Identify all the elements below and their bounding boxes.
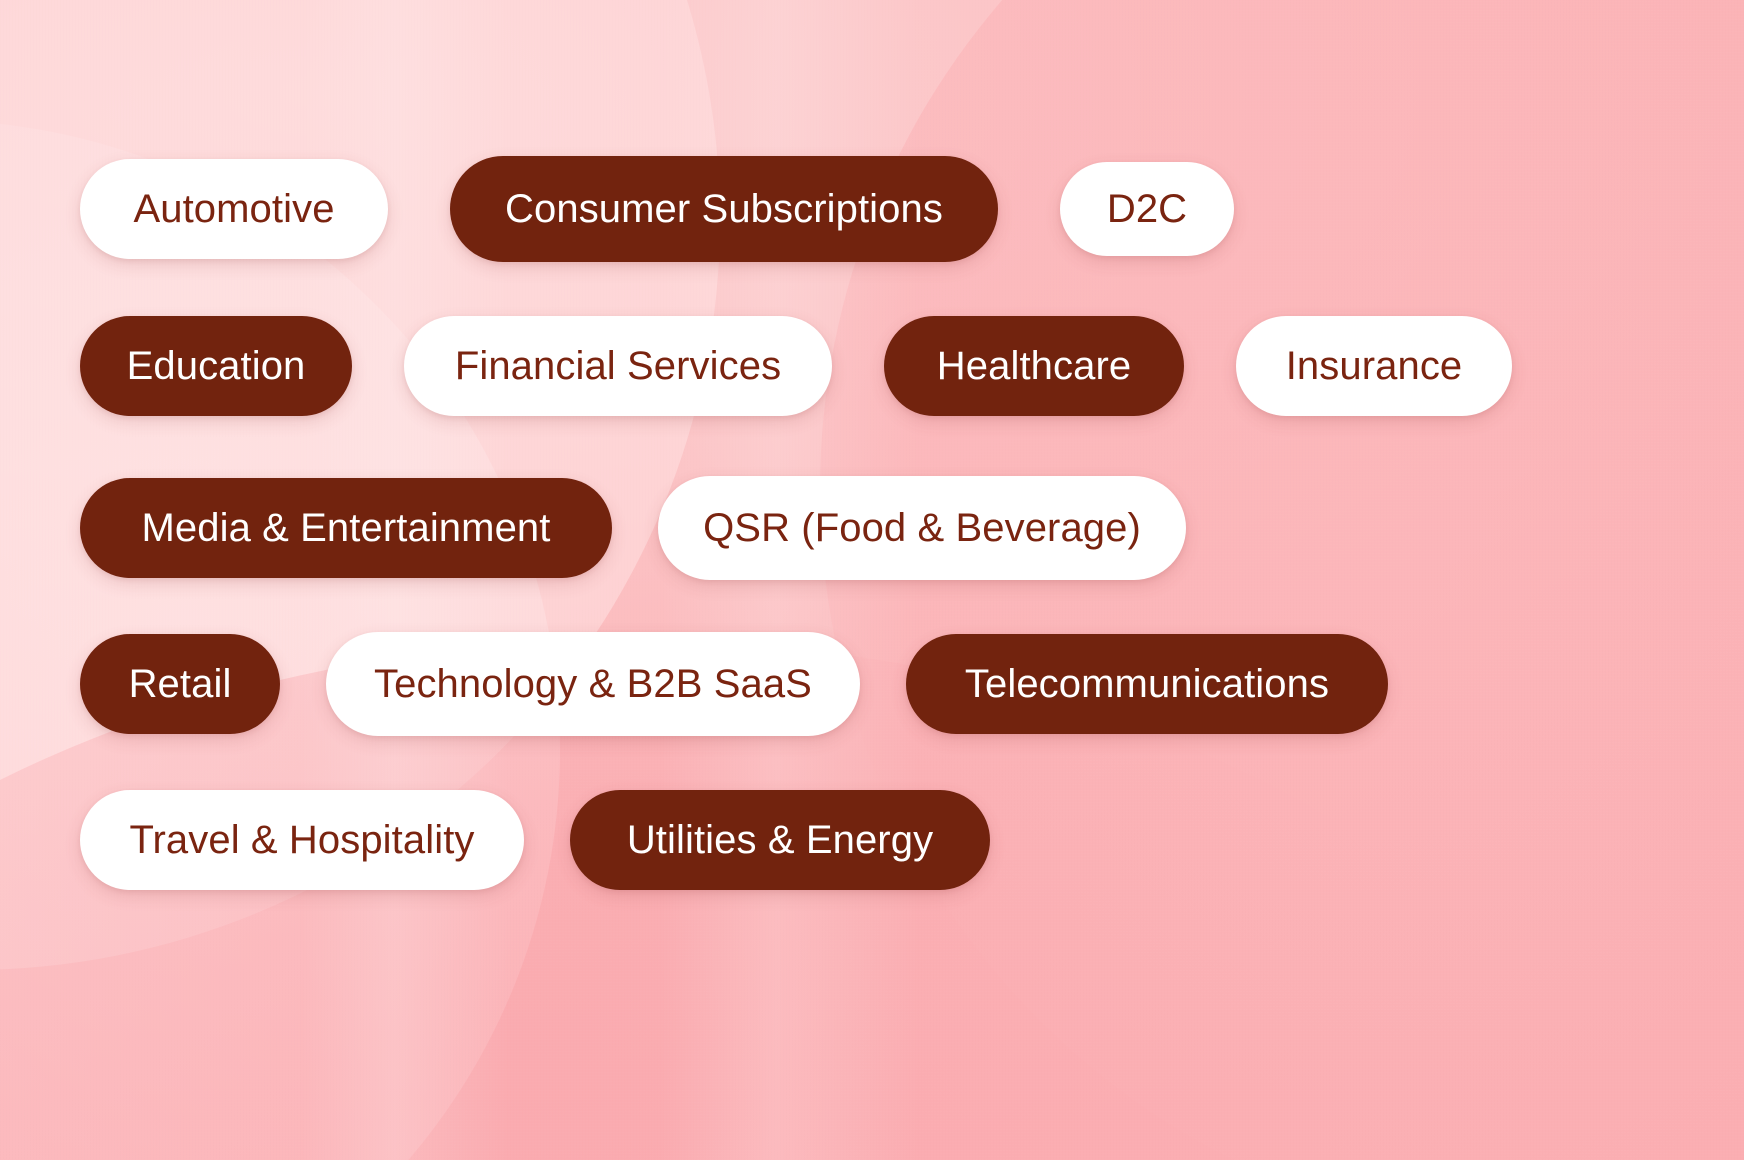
pill-row-1: AutomotiveConsumer SubscriptionsD2C xyxy=(80,156,1234,262)
pill-financial-services[interactable]: Financial Services xyxy=(404,316,832,416)
pill-row-3: Media & EntertainmentQSR (Food & Beverag… xyxy=(80,476,1186,580)
pill-d2c[interactable]: D2C xyxy=(1060,162,1234,256)
pill-education[interactable]: Education xyxy=(80,316,352,416)
pill-automotive[interactable]: Automotive xyxy=(80,159,388,259)
pill-utilities-and-energy[interactable]: Utilities & Energy xyxy=(570,790,990,890)
pill-qsr-food-and-beverage[interactable]: QSR (Food & Beverage) xyxy=(658,476,1186,580)
industry-vertical-pill-board: AutomotiveConsumer SubscriptionsD2CEduca… xyxy=(0,0,1744,1160)
pill-media-and-entertainment[interactable]: Media & Entertainment xyxy=(80,478,612,578)
pill-insurance[interactable]: Insurance xyxy=(1236,316,1512,416)
pill-row-5: Travel & HospitalityUtilities & Energy xyxy=(80,790,990,890)
pill-technology-and-b2b-saas[interactable]: Technology & B2B SaaS xyxy=(326,632,860,736)
pill-row-4: RetailTechnology & B2B SaaSTelecommunica… xyxy=(80,632,1388,736)
pill-healthcare[interactable]: Healthcare xyxy=(884,316,1184,416)
pill-retail[interactable]: Retail xyxy=(80,634,280,734)
pill-row-2: EducationFinancial ServicesHealthcareIns… xyxy=(80,316,1512,416)
pill-telecommunications[interactable]: Telecommunications xyxy=(906,634,1388,734)
pill-travel-and-hospitality[interactable]: Travel & Hospitality xyxy=(80,790,524,890)
pill-consumer-subscriptions[interactable]: Consumer Subscriptions xyxy=(450,156,998,262)
